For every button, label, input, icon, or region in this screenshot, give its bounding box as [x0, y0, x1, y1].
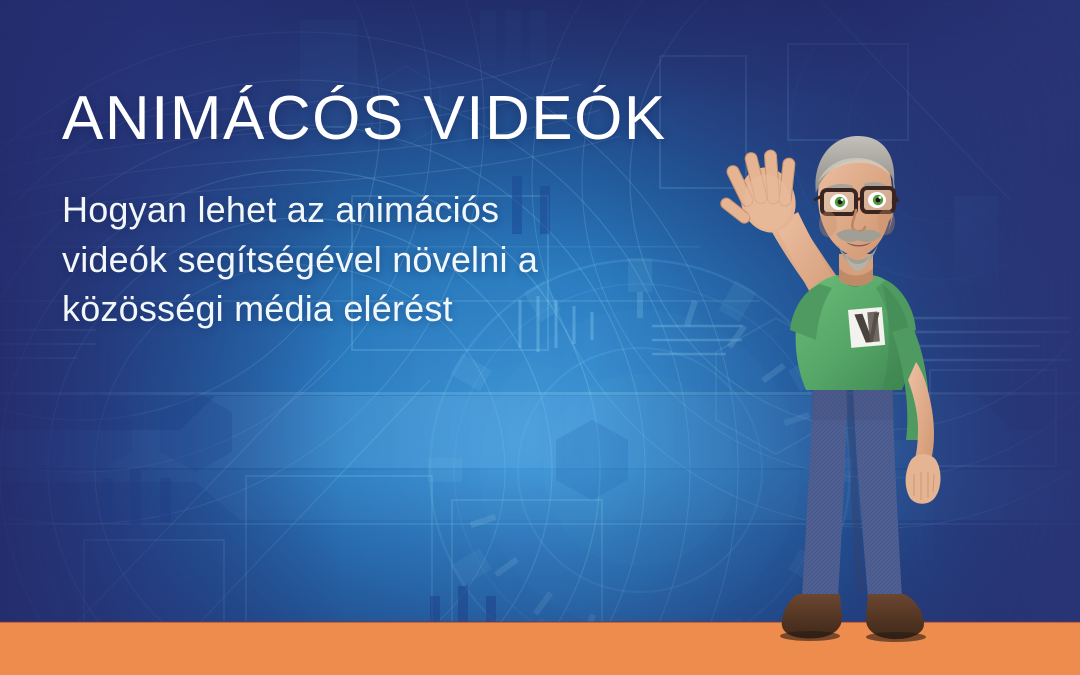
subtitle-line-3: közösségi média elérést — [62, 284, 662, 334]
character-illustration — [706, 128, 1006, 648]
waving-man-figure — [706, 128, 1006, 648]
hanging-arm — [892, 326, 941, 504]
promo-banner: ANIMÁCÓS VIDEÓK Hogyan lehet az animáció… — [0, 0, 1080, 675]
legs — [802, 378, 902, 598]
page-title: ANIMÁCÓS VIDEÓK — [62, 86, 802, 151]
page-subtitle: Hogyan lehet az animációs videók segítsé… — [62, 185, 662, 334]
subtitle-line-2: videók segítségével növelni a — [62, 235, 662, 285]
shirt-logo — [848, 307, 885, 348]
head — [814, 136, 898, 271]
subtitle-line-1: Hogyan lehet az animációs — [62, 185, 662, 235]
shoes — [780, 594, 926, 642]
headline-block: ANIMÁCÓS VIDEÓK Hogyan lehet az animáció… — [62, 86, 802, 334]
